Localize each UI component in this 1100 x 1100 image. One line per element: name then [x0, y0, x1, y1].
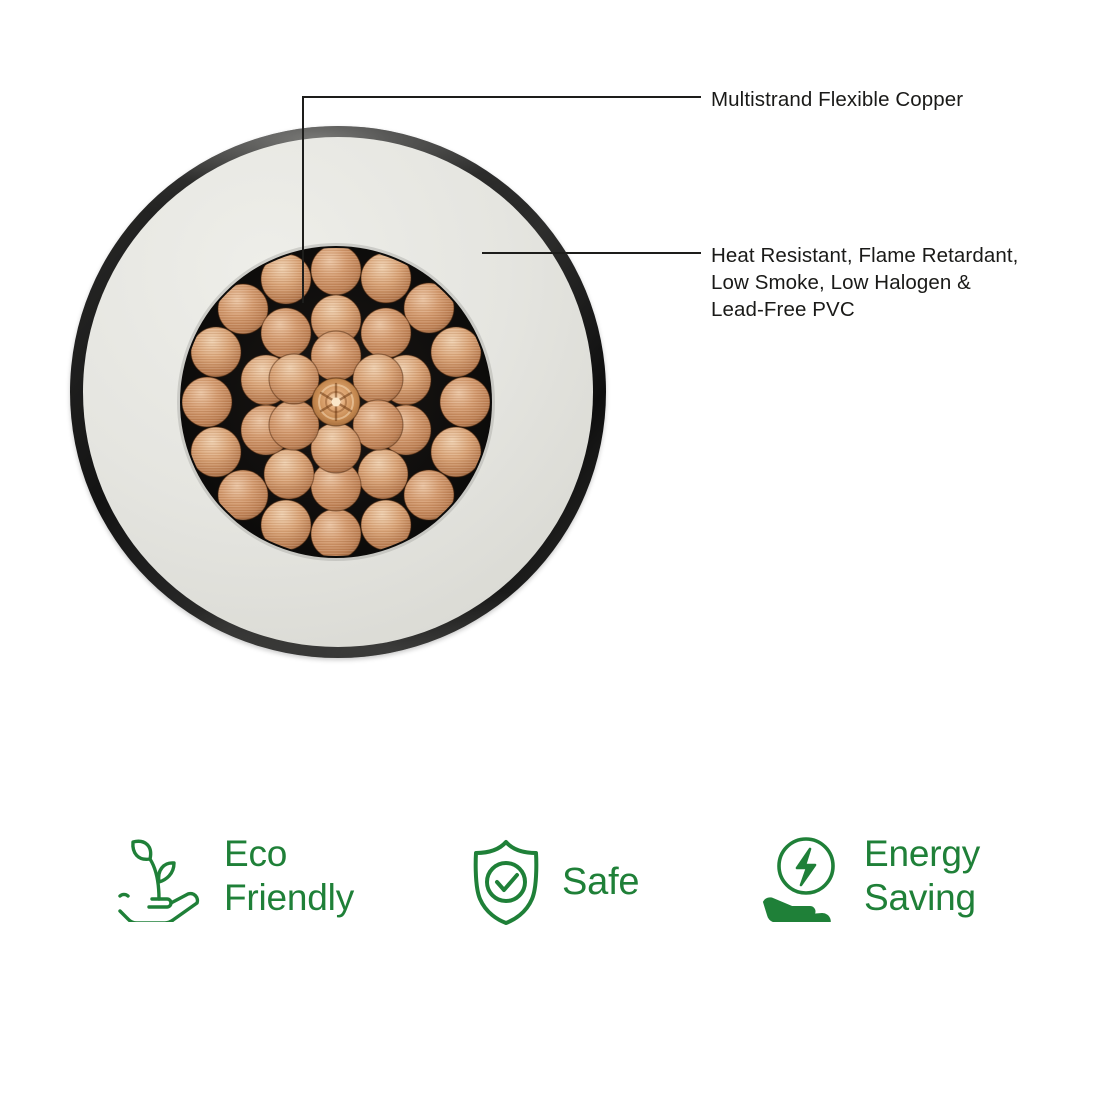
shield-check-icon: [466, 837, 546, 927]
badge-label-energy-saving: Energy Saving: [864, 832, 980, 920]
badge-eco-friendly: Eco Friendly: [112, 830, 354, 922]
leader-line-conductor-horizontal: [302, 96, 701, 98]
strand-group: [182, 246, 490, 558]
hand-holding-lightning-icon: [758, 830, 848, 922]
leader-line-conductor-vertical: [302, 96, 304, 303]
hand-shape: [764, 898, 830, 922]
badge-label-safe: Safe: [562, 860, 639, 904]
cable-cross-section-figure: [70, 126, 606, 658]
callout-label-insulation: Heat Resistant, Flame Retardant, Low Smo…: [711, 242, 1018, 323]
leader-line-insulation: [482, 252, 701, 254]
hand-holding-sprout-icon: [112, 830, 208, 922]
badge-safe: Safe: [466, 837, 639, 927]
feature-badge-row: Eco Friendly Safe Energy Saving: [0, 820, 1100, 950]
strand-core: [312, 378, 360, 426]
badge-energy-saving: Energy Saving: [758, 830, 980, 922]
badge-label-eco-friendly: Eco Friendly: [224, 832, 354, 920]
callout-label-conductor: Multistrand Flexible Copper: [711, 86, 963, 113]
copper-strands-graphic: [180, 246, 492, 558]
copper-strand-bundle: [180, 246, 492, 558]
